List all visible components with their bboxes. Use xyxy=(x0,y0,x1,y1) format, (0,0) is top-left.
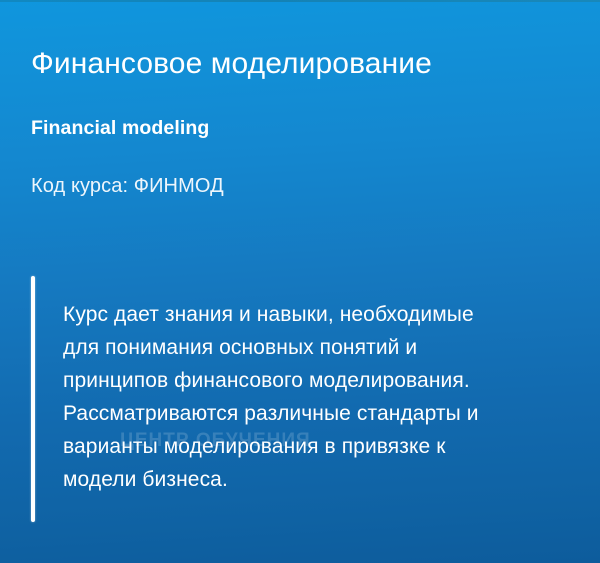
description-line: Рассматриваются различные стандарты и xyxy=(63,397,549,430)
description-line: Курс дает знания и навыки, необходимые xyxy=(63,298,549,331)
top-edge-strip xyxy=(0,0,600,2)
description-line: модели бизнеса. xyxy=(63,463,549,496)
course-card: Финансовое моделирование Financial model… xyxy=(0,0,600,563)
description-line: для понимания основных понятий и xyxy=(63,331,549,364)
course-title-english: Financial modeling xyxy=(31,117,209,140)
page-title: Финансовое моделирование xyxy=(31,47,432,81)
course-description-block: Курс дает знания и навыки, необходимые д… xyxy=(31,276,551,522)
course-code-label: Код курса: ФИНМОД xyxy=(31,175,224,198)
accent-bar xyxy=(31,276,35,522)
description-line: варианты моделирования в привязке к xyxy=(63,430,549,463)
description-line: принципов финансового моделирования. xyxy=(63,364,549,397)
course-description-text: Курс дает знания и навыки, необходимые д… xyxy=(63,298,549,496)
